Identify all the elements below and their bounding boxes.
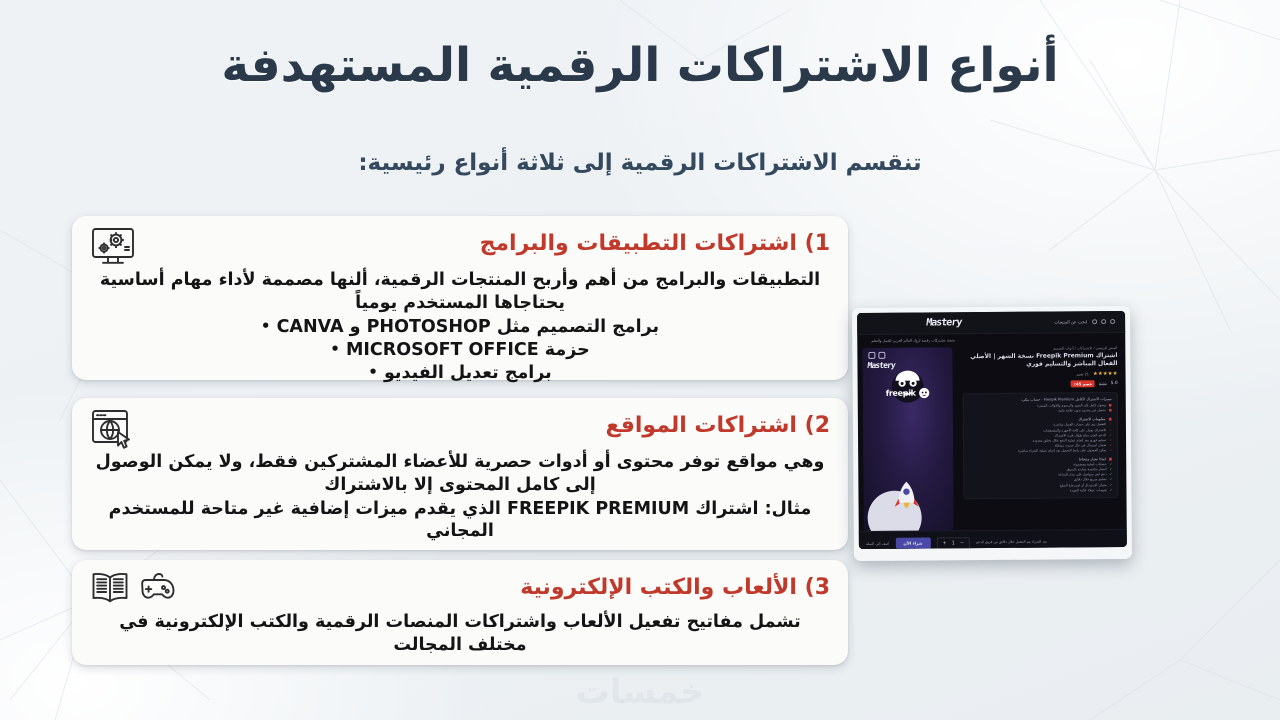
mockup-price: 5.0 [1111, 381, 1118, 386]
freepik-logo-icon [919, 387, 930, 398]
mockup-old-price: 9.00 [1099, 382, 1107, 386]
mockup-brand-logo[interactable]: Mastery [925, 317, 961, 328]
bullet-dot: • [368, 363, 378, 381]
increment-button[interactable]: + [942, 540, 946, 546]
mockup-freepik-brand: freepik [886, 387, 930, 398]
list-item: ✓يمكن الحصول على رابط التحميل بعد إتمام … [969, 448, 1112, 454]
mockup-rocket-icon [893, 481, 919, 515]
watermark: خمسات [0, 672, 1280, 712]
list-item: برامج التصميم مثل PHOTOSHOP و CANVA • [90, 316, 830, 339]
mockup-rating: ★★★★★ 21 تقييم [963, 371, 1118, 378]
card-icon-group [90, 408, 134, 450]
mockup-discount-badge: خصم 45٪ [1071, 380, 1095, 387]
list-item: برامج تعديل الفيديو • [90, 362, 830, 385]
page-title: أنواع الاشتراكات الرقمية المستهدفة [0, 40, 1280, 93]
add-to-cart-button[interactable]: أضف إلى السلة [866, 541, 890, 545]
card-header: 3) الألعاب والكتب الإلكترونية [90, 570, 830, 610]
mockup-product-info: المتجر الرئيسي / الاشتراكات / أدوات التص… [956, 341, 1126, 530]
share-icon[interactable] [878, 352, 885, 359]
heart-icon[interactable] [868, 352, 875, 359]
mockup-freepik-wordmark: freepik [886, 389, 916, 398]
card-bullet-list: برامج التصميم مثل PHOTOSHOP و CANVA • حز… [90, 316, 830, 386]
mockup-navbar[interactable]: ابحث عن المنتجات Mastery [857, 311, 1125, 335]
card-header: 1) اشتراكات التطبيقات والبرامج [90, 226, 830, 268]
open-book-icon [90, 570, 130, 604]
card-title: 2) اشتراكات المواقع [605, 408, 830, 440]
mockup-bottom-bar[interactable]: بعد الشراء يتم التفعيل خلال دقائق من فري… [859, 529, 1127, 549]
buy-now-button[interactable]: شراء الآن [895, 537, 930, 548]
list-item: ✓تقييمات عملاء عالية الجودة [969, 488, 1112, 494]
mockup-review-count[interactable]: 21 تقييم [1076, 372, 1088, 376]
mockup-bottom-note: بعد الشراء يتم التفعيل خلال دقائق من فري… [976, 540, 1047, 545]
list-item: حزمة MICROSOFT OFFICE • [90, 339, 830, 362]
star-rating-icon: ★★★★★ [1093, 371, 1118, 377]
card-body-example: مثال: اشتراك FREEPIK PREMIUM الذي يقدم م… [90, 498, 830, 544]
browser-globe-cursor-icon [90, 408, 134, 450]
quantity-value: 1 [952, 540, 955, 546]
bullet-marker: ■ [1109, 408, 1112, 413]
heart-icon[interactable] [1101, 319, 1106, 324]
quantity-stepper[interactable]: − 1 + [936, 537, 970, 549]
card-header: 2) اشتراكات المواقع [90, 408, 830, 450]
mockup-screen: ابحث عن المنتجات Mastery منصة مشتركات رق… [857, 311, 1127, 549]
card-website-subscriptions[interactable]: 2) اشتراكات المواقع وهي مواقع توفر محتوى… [72, 398, 848, 550]
card-icon-group [90, 226, 136, 268]
mockup-hero-art: Mastery [862, 347, 953, 531]
card-body-text: تشمل مفاتيح تفعيل الألعاب واشتراكات المن… [90, 611, 830, 657]
card-icon-group [90, 570, 176, 604]
card-games-and-ebooks[interactable]: 3) الألعاب والكتب الإلكترونية [72, 560, 848, 665]
cart-icon[interactable] [1110, 319, 1115, 324]
mockup-product-title: اشتراك Freepik Premium نسخة الشهر | الأص… [962, 352, 1117, 369]
card-body-text: وهي مواقع توفر محتوى أو أدوات حصرية للأع… [90, 451, 830, 497]
mockup-specs-panel: مميزات الاشتراك الكامل Freepik Premium -… [963, 392, 1119, 499]
bullet-marker: ■ [1109, 457, 1112, 461]
mockup-specs-heading: مميزات الاشتراك الكامل Freepik Premium -… [969, 397, 1112, 402]
card-body-text: التطبيقات والبرامج من أهم وأربح المنتجات… [90, 269, 830, 315]
list-item: ■ تحميل غير محدود بدون علامة مائية [969, 408, 1112, 414]
mockup-price-row: 5.0 9.00 خصم 45٪ [963, 380, 1118, 388]
decrement-button[interactable]: − [960, 540, 964, 546]
search-icon[interactable] [1092, 319, 1097, 324]
bullet-dot: • [261, 317, 271, 335]
mockup-content: المتجر الرئيسي / الاشتراكات / أدوات التص… [857, 341, 1126, 531]
mockup-search-input[interactable]: ابحث عن المنتجات [1054, 319, 1087, 324]
slide-root: أنواع الاشتراكات الرقمية المستهدفة تنقسم… [0, 0, 1280, 720]
mockup-share-buttons[interactable] [868, 352, 885, 359]
product-page-mockup[interactable]: ابحث عن المنتجات Mastery منصة مشتركات رق… [852, 306, 1132, 561]
mockup-nav-icons[interactable] [1092, 319, 1115, 324]
page-subtitle: تنقسم الاشتراكات الرقمية إلى ثلاثة أنواع… [0, 150, 1280, 176]
card-title: 1) اشتراكات التطبيقات والبرامج [480, 226, 830, 258]
monitor-gears-icon [90, 226, 136, 268]
mockup-breadcrumb[interactable]: المتجر الرئيسي / الاشتراكات / أدوات التص… [962, 346, 1117, 351]
gamepad-icon [134, 571, 176, 603]
card-apps-and-software[interactable]: 1) اشتراكات التطبيقات والبرامج [72, 216, 848, 380]
bullet-dot: • [330, 340, 340, 358]
bullet-marker: ■ [1108, 417, 1111, 421]
card-title: 3) الألعاب والكتب الإلكترونية [520, 570, 830, 602]
mockup-hero-logo: Mastery [867, 361, 895, 370]
